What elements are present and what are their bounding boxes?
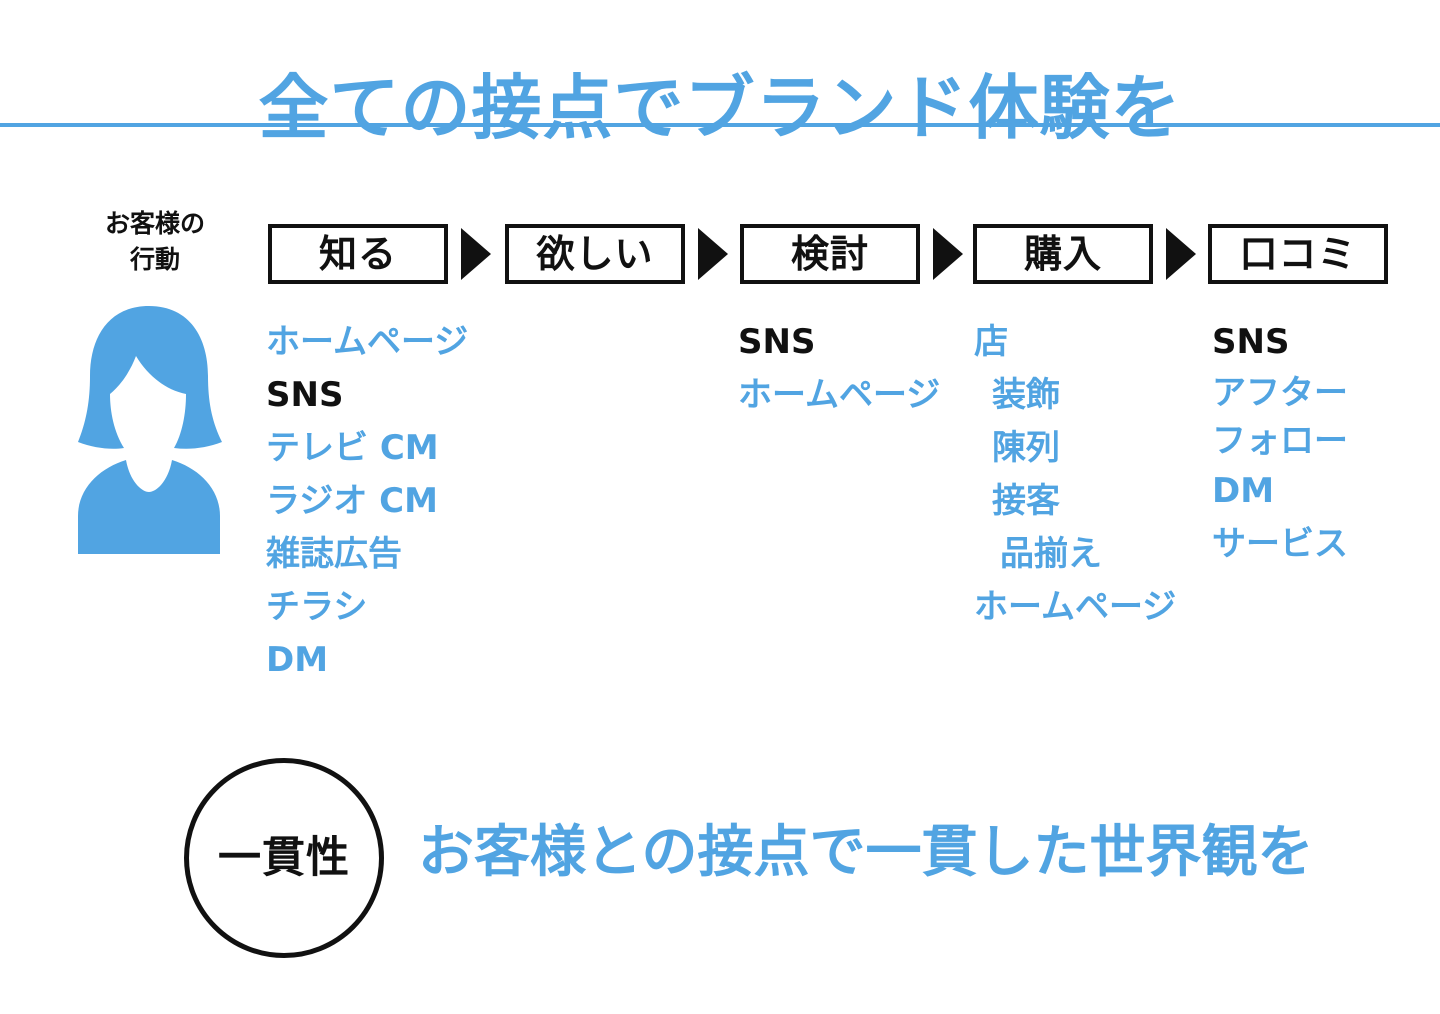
actor-label-line2: 行動: [60, 242, 250, 278]
touchpoint-item: DM: [1212, 465, 1348, 518]
touchpoint-item: SNS: [266, 369, 468, 422]
triangle-right-icon: [933, 228, 963, 280]
touchpoint-item: サービス: [1212, 518, 1348, 571]
touchpoint-item: SNS: [1212, 316, 1348, 369]
triangle-right-icon: [1166, 228, 1196, 280]
touchpoint-list-purchase: 店装飾陳列接客品揃えホームページ: [974, 316, 1176, 634]
title-divider: [0, 123, 1440, 127]
stage-box-label: 購入: [1024, 235, 1102, 273]
stage-box-label: 検討: [791, 235, 869, 273]
stage-box-know[interactable]: 知る: [268, 224, 448, 284]
touchpoint-item: 陳列: [974, 422, 1176, 475]
actor-label-line1: お客様の: [60, 206, 250, 242]
stage-box-label: 欲しい: [536, 235, 653, 273]
triangle-right-icon: [698, 228, 728, 280]
actor-label: お客様の 行動: [60, 206, 250, 277]
slide-canvas: 全ての接点でブランド体験を お客様の 行動 知る欲しい検討購入口コミ ホームペー…: [0, 0, 1440, 1014]
footer-message: お客様との接点で一貫した世界観を: [418, 822, 1313, 884]
touchpoint-item: 店: [974, 316, 1176, 369]
touchpoint-list-know: ホームページSNSテレビ CMラジオ CM雑誌広告チラシDM: [266, 316, 468, 687]
stage-box-label: 知る: [319, 235, 397, 273]
stage-box-wom[interactable]: 口コミ: [1208, 224, 1388, 284]
consistency-badge-label: 一貫性: [218, 837, 350, 880]
touchpoint-item: フォロー: [1212, 417, 1348, 465]
touchpoint-item: チラシ: [266, 581, 468, 634]
triangle-right-icon: [461, 228, 491, 280]
touchpoint-item: 装飾: [974, 369, 1176, 422]
stage-box-purchase[interactable]: 購入: [973, 224, 1153, 284]
touchpoint-item: DM: [266, 634, 468, 687]
touchpoint-item: ホームページ: [974, 581, 1176, 634]
touchpoint-item: ホームページ: [266, 316, 468, 369]
touchpoint-item: SNS: [738, 316, 940, 369]
touchpoint-item: アフター: [1212, 369, 1348, 417]
touchpoint-item: 接客: [974, 475, 1176, 528]
stage-box-consider[interactable]: 検討: [740, 224, 920, 284]
stage-box-want[interactable]: 欲しい: [505, 224, 685, 284]
touchpoint-item: テレビ CM: [266, 422, 468, 475]
person-female-icon: [64, 302, 234, 560]
stage-box-label: 口コミ: [1239, 235, 1356, 273]
touchpoint-list-consider: SNSホームページ: [738, 316, 940, 422]
consistency-badge: 一貫性: [184, 758, 384, 958]
page-title: 全ての接点でブランド体験を: [0, 73, 1440, 143]
touchpoint-list-wom: SNSアフターフォローDMサービス: [1212, 316, 1348, 571]
touchpoint-item: 雑誌広告: [266, 528, 468, 581]
touchpoint-item: ホームページ: [738, 369, 940, 422]
touchpoint-item: ラジオ CM: [266, 475, 468, 528]
touchpoint-item: 品揃え: [974, 528, 1176, 581]
